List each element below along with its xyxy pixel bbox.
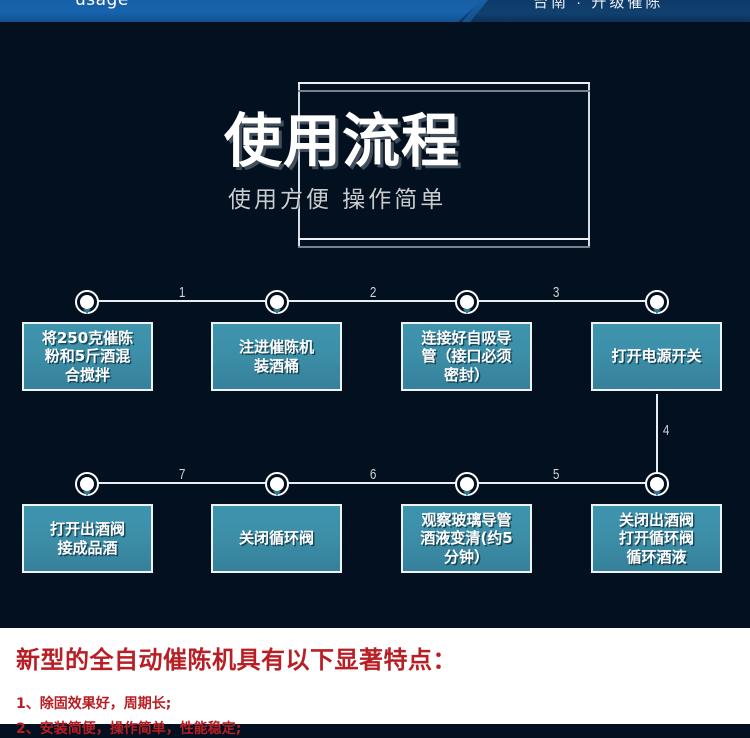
- flow-step-box-1[interactable]: 将250克催陈 粉和5斤酒混 合搅拌: [22, 322, 153, 391]
- connector-number-6: 6: [370, 466, 377, 483]
- node-dot-icon: [270, 295, 284, 309]
- frame-top-line-2: [298, 90, 590, 92]
- node-ring-icon: [265, 290, 289, 314]
- flow-step-label-8: 打开出酒阀 接成品酒: [50, 520, 125, 557]
- node-notch-icon: [273, 309, 281, 314]
- connector-number-1: 1: [179, 284, 186, 301]
- node-notch-icon: [653, 309, 661, 314]
- node-notch-icon: [463, 491, 471, 496]
- flow-rail-bottom: [86, 482, 658, 484]
- node-ring-icon: [75, 472, 99, 496]
- node-dot-icon: [650, 477, 664, 491]
- flow-step-box-3[interactable]: 连接好自吸导 管（接口必须 密封）: [401, 322, 532, 391]
- top-banner: usage 台南 · 升级催陈: [0, 0, 750, 22]
- flow-node-2: [265, 290, 289, 314]
- node-ring-icon: [265, 472, 289, 496]
- connector-number-4: 4: [663, 422, 670, 439]
- flow-rail-top: [86, 300, 658, 302]
- node-ring-icon: [455, 290, 479, 314]
- flow-node-5: [645, 472, 669, 496]
- node-notch-icon: [83, 309, 91, 314]
- flow-step-label-1: 将250克催陈 粉和5斤酒混 合搅拌: [42, 329, 133, 384]
- frame-bottom-line-2: [298, 246, 590, 248]
- flow-step-box-7[interactable]: 关闭循环阀: [211, 504, 342, 573]
- connector-number-7: 7: [179, 466, 186, 483]
- node-dot-icon: [460, 295, 474, 309]
- banner-right-label: 台南 · 升级催陈: [533, 0, 663, 12]
- feature-item-1: 1、除固效果好，周期长;: [16, 693, 171, 713]
- flow-step-label-2: 注进催陈机 装酒桶: [239, 338, 314, 375]
- flow-step-box-2[interactable]: 注进催陈机 装酒桶: [211, 322, 342, 391]
- flow-step-label-6: 观察玻璃导管 酒液变清(约5 分钟）: [420, 511, 512, 566]
- flow-step-box-5[interactable]: 关闭出酒阀 打开循环阀 循环酒液: [591, 504, 722, 573]
- node-dot-icon: [80, 295, 94, 309]
- frame-bottom-line-1: [298, 238, 590, 240]
- flow-step-label-4: 打开电源开关: [611, 347, 701, 365]
- node-ring-icon: [645, 472, 669, 496]
- flow-step-box-6[interactable]: 观察玻璃导管 酒液变清(约5 分钟）: [401, 504, 532, 573]
- connector-number-2: 2: [370, 284, 377, 301]
- flow-node-7: [265, 472, 289, 496]
- node-dot-icon: [80, 477, 94, 491]
- frame-top-line-1: [298, 82, 590, 84]
- node-notch-icon: [463, 309, 471, 314]
- flow-step-label-7: 关闭循环阀: [239, 529, 314, 547]
- features-heading: 新型的全自动催陈机具有以下显著特点：: [16, 640, 457, 675]
- node-ring-icon: [75, 290, 99, 314]
- banner-left-label: usage: [75, 0, 129, 10]
- node-dot-icon: [460, 477, 474, 491]
- node-dot-icon: [650, 295, 664, 309]
- flow-step-label-5: 关闭出酒阀 打开循环阀 循环酒液: [619, 511, 694, 566]
- flow-step-box-8[interactable]: 打开出酒阀 接成品酒: [22, 504, 153, 573]
- node-notch-icon: [83, 491, 91, 496]
- feature-item-2: 2、安装简便，操作简单，性能稳定;: [16, 718, 241, 738]
- page-subtitle: 使用方便 操作简单: [228, 180, 446, 214]
- node-ring-icon: [455, 472, 479, 496]
- flow-node-1: [75, 290, 99, 314]
- flow-node-4: [645, 290, 669, 314]
- flow-step-label-3: 连接好自吸导 管（接口必须 密封）: [421, 329, 511, 384]
- flow-node-8: [75, 472, 99, 496]
- connector-number-5: 5: [553, 466, 560, 483]
- page-title: 使用流程: [224, 112, 460, 170]
- flow-node-6: [455, 472, 479, 496]
- flow-rail-vertical: [656, 394, 658, 482]
- node-dot-icon: [270, 477, 284, 491]
- flow-step-box-4[interactable]: 打开电源开关: [591, 322, 722, 391]
- node-notch-icon: [653, 491, 661, 496]
- node-ring-icon: [645, 290, 669, 314]
- connector-number-3: 3: [553, 284, 560, 301]
- flow-node-3: [455, 290, 479, 314]
- node-notch-icon: [273, 491, 281, 496]
